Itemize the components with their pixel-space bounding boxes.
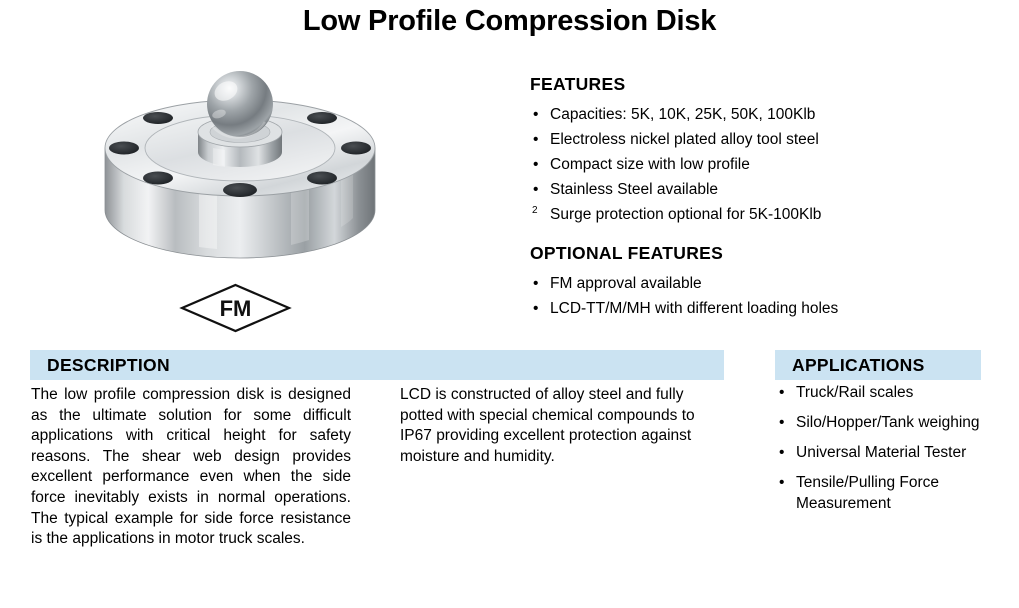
applications-section: • Truck/Rail scales • Silo/Hopper/Tank w…: [776, 382, 1011, 523]
page-title: Low Profile Compression Disk: [0, 5, 1019, 38]
optional-features-section: OPTIONAL FEATURES • FM approval availabl…: [530, 243, 960, 321]
features-section: FEATURES • Capacities: 5K, 10K, 25K, 50K…: [530, 74, 960, 227]
features-heading: FEATURES: [530, 74, 960, 95]
features-list: • Capacities: 5K, 10K, 25K, 50K, 100Klb …: [530, 102, 960, 227]
list-item: • Silo/Hopper/Tank weighing: [776, 412, 1011, 433]
list-item: • Truck/Rail scales: [776, 382, 1011, 403]
bullet-icon: •: [779, 412, 784, 433]
bullet-icon: •: [533, 152, 538, 177]
optional-features-heading: OPTIONAL FEATURES: [530, 243, 960, 264]
bullet-icon: •: [533, 127, 538, 152]
applications-heading: APPLICATIONS: [775, 350, 981, 380]
list-item: • Electroless nickel plated alloy tool s…: [530, 127, 960, 152]
applications-list: • Truck/Rail scales • Silo/Hopper/Tank w…: [776, 382, 1011, 514]
applications-header-bar: APPLICATIONS: [775, 350, 981, 380]
application-text: Truck/Rail scales: [796, 384, 913, 401]
application-text: Universal Material Tester: [796, 444, 966, 461]
description-column-2: LCD is constructed of alloy steel and fu…: [400, 385, 722, 467]
list-item: • Tensile/Pulling Force Measurement: [776, 472, 1011, 514]
bullet-icon: •: [779, 382, 784, 403]
list-item: • Capacities: 5K, 10K, 25K, 50K, 100Klb: [530, 102, 960, 127]
optional-feature-text: FM approval available: [550, 275, 702, 292]
application-text: Silo/Hopper/Tank weighing: [796, 414, 980, 431]
application-text: Tensile/Pulling Force Measurement: [796, 474, 939, 512]
fm-approval-mark: FM: [179, 283, 292, 333]
feature-text: Surge protection optional for 5K-100Klb: [550, 206, 821, 223]
feature-text: Electroless nickel plated alloy tool ste…: [550, 131, 819, 148]
feature-text: Compact size with low profile: [550, 156, 750, 173]
list-item: • Universal Material Tester: [776, 442, 1011, 463]
list-item: 2 Surge protection optional for 5K-100Kl…: [530, 202, 960, 227]
list-item: • Compact size with low profile: [530, 152, 960, 177]
product-image-compression-disk: [95, 70, 385, 285]
list-item: • Stainless Steel available: [530, 177, 960, 202]
fm-mark-label: FM: [220, 296, 252, 321]
description-heading: DESCRIPTION: [30, 350, 724, 380]
description-header-bar: DESCRIPTION: [30, 350, 724, 380]
list-item: • LCD-TT/M/MH with different loading hol…: [530, 296, 960, 321]
bullet-icon: •: [779, 442, 784, 463]
bullet-icon: •: [533, 296, 538, 321]
bullet-icon: •: [533, 271, 538, 296]
optional-features-list: • FM approval available • LCD-TT/M/MH wi…: [530, 271, 960, 321]
footnote-marker: 2: [532, 198, 538, 223]
bullet-icon: •: [779, 472, 784, 493]
bullet-icon: •: [533, 102, 538, 127]
optional-feature-text: LCD-TT/M/MH with different loading holes: [550, 300, 838, 317]
description-column-1: The low profile compression disk is desi…: [31, 385, 351, 550]
feature-text: Capacities: 5K, 10K, 25K, 50K, 100Klb: [550, 106, 815, 123]
feature-text: Stainless Steel available: [550, 181, 718, 198]
list-item: • FM approval available: [530, 271, 960, 296]
